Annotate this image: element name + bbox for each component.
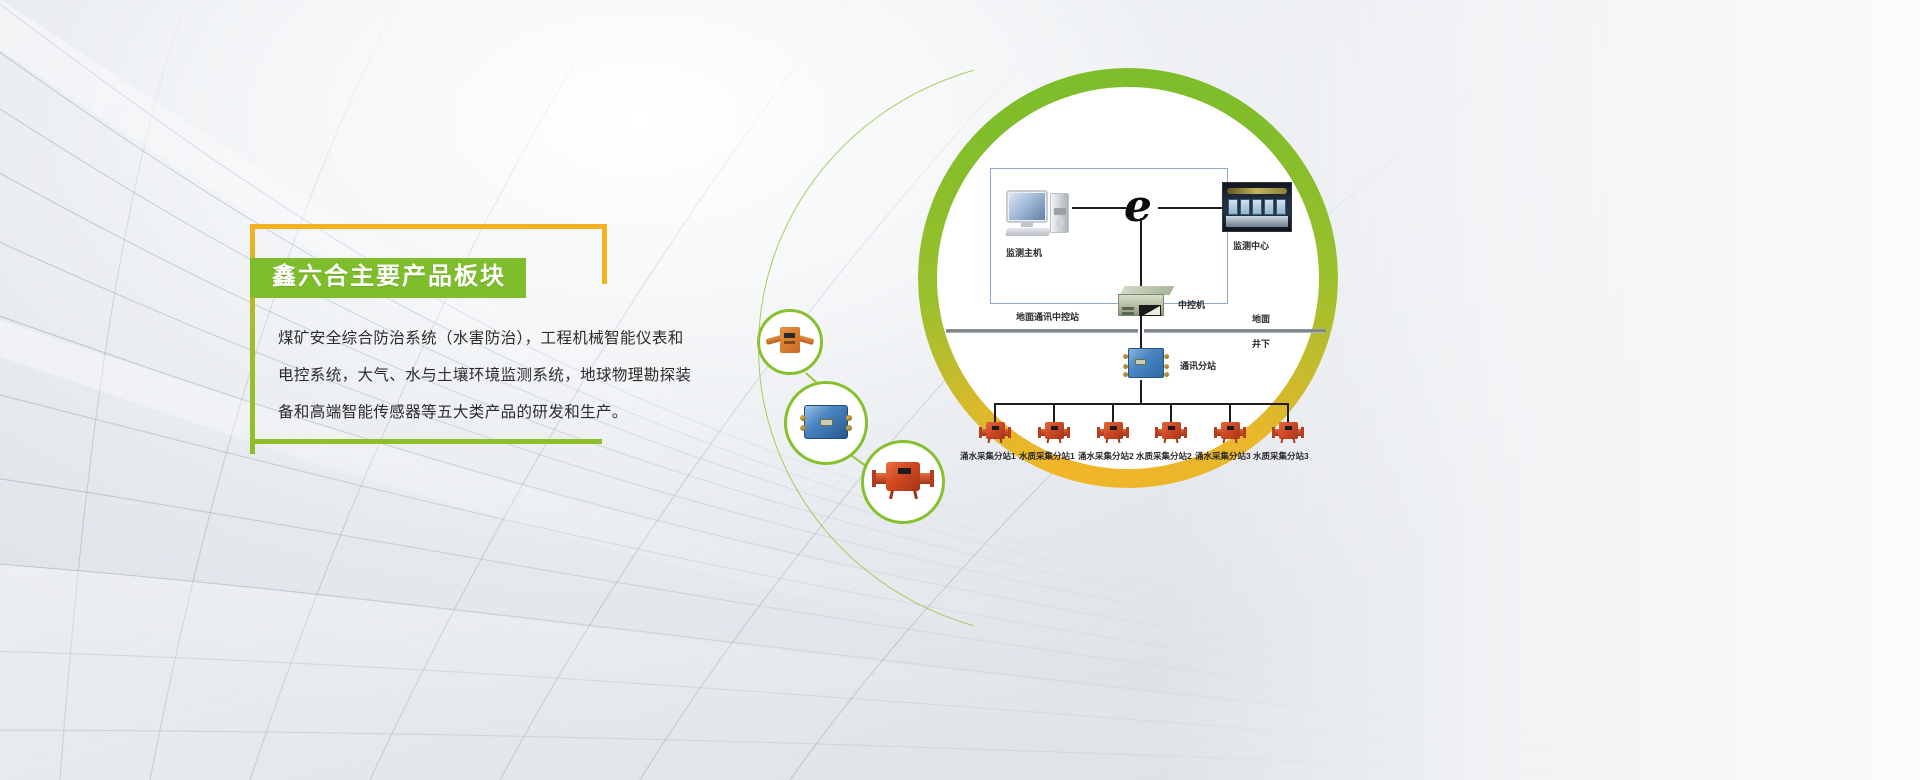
drop-wire-5 bbox=[1229, 403, 1231, 423]
architecture-diagram: 监测主机 e 监测中心 中控机 地面通讯中控站 地面 井下 bbox=[940, 100, 1330, 470]
drop-wire-1 bbox=[994, 403, 996, 423]
description-text: 煤矿安全综合防治系统（水害防治），工程机械智能仪表和 电控系统，大气、水与土壤环… bbox=[278, 320, 708, 431]
collection-station-icon-5 bbox=[1214, 422, 1246, 444]
label-central-control: 中控机 bbox=[1178, 298, 1205, 311]
description-line-2: 电控系统，大气、水与土壤环境监测系统，地球物理勘探装 bbox=[278, 357, 708, 394]
drop-wire-3 bbox=[1112, 403, 1114, 423]
label-collection-station-1: 涌水采集分站1 bbox=[960, 450, 1016, 462]
description-line-3: 备和高端智能传感器等五大类产品的研发和生产。 bbox=[278, 394, 708, 431]
collection-station-icon-3 bbox=[1097, 422, 1129, 444]
product-banner: 煤矿安全综合防治系统（水害防治），工程机械智能仪表和 电控系统，大气、水与土壤环… bbox=[0, 0, 1920, 780]
communication-substation-icon bbox=[1122, 346, 1170, 382]
label-collection-station-6: 水质采集分站3 bbox=[1253, 450, 1309, 462]
label-collection-station-5: 涌水采集分站3 bbox=[1195, 450, 1251, 462]
central-control-machine-icon bbox=[1118, 286, 1172, 318]
wire-server-to-substation bbox=[1140, 316, 1142, 348]
wire-host-to-internet bbox=[1072, 207, 1126, 209]
collection-station-icon-6 bbox=[1272, 422, 1304, 444]
label-collection-station-4: 水质采集分站2 bbox=[1136, 450, 1192, 462]
monitoring-host-icon bbox=[1006, 188, 1070, 240]
drop-wire-2 bbox=[1053, 403, 1055, 423]
ground-surface-line-left bbox=[946, 329, 1138, 333]
wire-internet-to-center bbox=[1158, 207, 1224, 209]
label-collection-station-2: 水质采集分站1 bbox=[1019, 450, 1075, 462]
ground-surface-line-right bbox=[1144, 329, 1326, 333]
collection-station-icon-1 bbox=[979, 422, 1011, 444]
wire-internet-to-server bbox=[1140, 218, 1142, 292]
label-underground: 井下 bbox=[1252, 337, 1270, 350]
title-banner: 鑫六合主要产品板块 bbox=[250, 258, 526, 298]
collection-station-icon-2 bbox=[1038, 422, 1070, 444]
wire-substation-to-bus bbox=[1140, 380, 1142, 404]
label-monitoring-host: 监测主机 bbox=[1006, 246, 1042, 259]
drop-wire-4 bbox=[1170, 403, 1172, 423]
label-comm-substation: 通讯分站 bbox=[1180, 359, 1216, 372]
monitoring-center-icon bbox=[1222, 182, 1292, 232]
text-panel: 煤矿安全综合防治系统（水害防治），工程机械智能仪表和 电控系统，大气、水与土壤环… bbox=[250, 224, 700, 444]
label-collection-station-3: 涌水采集分站2 bbox=[1078, 450, 1134, 462]
collection-station-icon-4 bbox=[1155, 422, 1187, 444]
bus-horizontal bbox=[994, 403, 1288, 405]
internet-cloud-icon: e bbox=[1124, 186, 1162, 230]
page-title: 鑫六合主要产品板块 bbox=[272, 263, 506, 290]
label-monitoring-center: 监测中心 bbox=[1233, 239, 1269, 252]
label-ground: 地面 bbox=[1252, 312, 1270, 325]
drop-wire-6 bbox=[1287, 403, 1289, 423]
label-ground-station: 地面通讯中控站 bbox=[1016, 310, 1079, 323]
description-line-1: 煤矿安全综合防治系统（水害防治），工程机械智能仪表和 bbox=[278, 320, 708, 357]
